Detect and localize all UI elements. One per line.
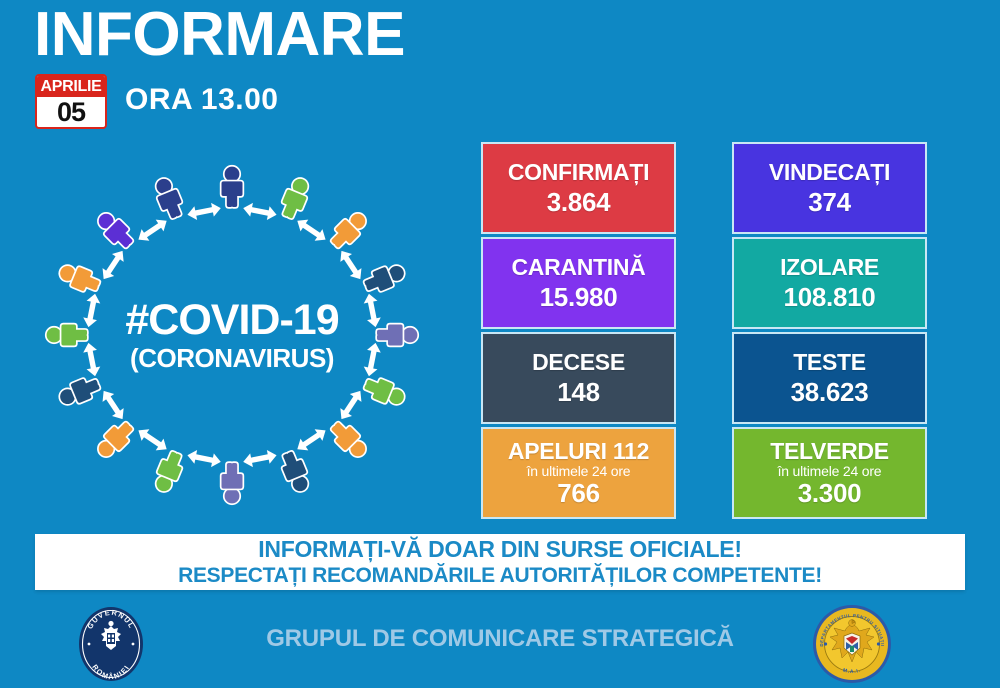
connection-arrow-icon (98, 247, 129, 283)
departamentul-situatii-urgenta-emblem: DEPARTAMENTUL PENTRU SITUAȚII M.A.I. (812, 604, 892, 684)
statistics-grid: CONFIRMAȚI3.864VINDECAȚI374CARANTINĂ15.9… (481, 142, 927, 519)
person-icon (362, 261, 407, 296)
connection-arrow-icon (336, 247, 367, 283)
person-icon (57, 374, 102, 409)
connection-arrow-icon (336, 387, 367, 423)
stat-label-apeluri-112: APELURI 112 (508, 439, 649, 463)
connection-arrow-icon (362, 342, 382, 378)
connection-arrow-icon (98, 387, 129, 423)
connection-arrow-icon (242, 448, 278, 468)
stat-box-carantina: CARANTINĂ15.980 (481, 237, 676, 329)
stat-value-izolare: 108.810 (784, 281, 876, 313)
stat-label-confirmati: CONFIRMAȚI (508, 159, 649, 186)
page-title: INFORMARE (34, 2, 405, 67)
person-icon (57, 261, 102, 296)
stat-label-vindecati: VINDECAȚI (769, 159, 890, 186)
connection-arrow-icon (362, 292, 382, 328)
connection-arrow-icon (293, 425, 329, 456)
stat-label-teste: TESTE (793, 349, 866, 376)
connection-arrow-icon (186, 201, 222, 221)
stat-box-telverde: TELVERDEîn ultimele 24 ore3.300 (732, 427, 927, 519)
connection-arrow-icon (242, 201, 278, 221)
person-icon (151, 175, 186, 220)
person-icon (151, 449, 186, 494)
stat-value-decese: 148 (557, 376, 599, 408)
notice-line-2: RESPECTAȚI RECOMANDĂRILE AUTORITĂȚILOR C… (178, 563, 822, 588)
calendar-month-label: APRILIE (37, 76, 105, 97)
official-sources-notice: INFORMAȚI-VĂ DOAR DIN SURSE OFICIALE! RE… (35, 534, 965, 590)
covid-people-circle-graphic: .pfill{fill:inherit;stroke:none;} #COVID… (32, 163, 432, 518)
stat-value-apeluri-112: 766 (557, 479, 599, 508)
stat-value-carantina: 15.980 (540, 281, 618, 313)
connection-arrow-icon (293, 215, 329, 246)
person-icon (278, 175, 313, 220)
person-icon (377, 325, 417, 346)
connection-arrow-icon (82, 292, 102, 328)
report-time: ORA 13.00 (125, 83, 278, 117)
connection-arrow-icon (135, 425, 171, 456)
stat-box-vindecati: VINDECAȚI374 (732, 142, 927, 234)
notice-line-1: INFORMAȚI-VĂ DOAR DIN SURSE OFICIALE! (258, 536, 741, 563)
person-icon (93, 418, 136, 461)
stat-box-teste: TESTE38.623 (732, 332, 927, 424)
stat-label-decese: DECESE (532, 349, 625, 376)
connection-arrow-icon (135, 215, 171, 246)
person-icon (47, 325, 87, 346)
stat-label-telverde: TELVERDE (770, 439, 889, 463)
calendar-day-label: 05 (37, 97, 105, 127)
person-icon (278, 449, 313, 494)
person-icon (93, 209, 136, 252)
stat-value-teste: 38.623 (791, 376, 869, 408)
stat-label-carantina: CARANTINĂ (511, 254, 645, 281)
connection-arrow-icon (186, 448, 222, 468)
stat-label-izolare: IZOLARE (780, 254, 879, 281)
calendar-icon: APRILIE 05 (35, 74, 107, 129)
person-icon (222, 167, 243, 207)
person-icon (327, 209, 370, 252)
stat-value-confirmati: 3.864 (547, 186, 611, 218)
stat-box-decese: DECESE148 (481, 332, 676, 424)
stat-box-confirmati: CONFIRMAȚI3.864 (481, 142, 676, 234)
person-icon (362, 374, 407, 409)
stat-value-vindecati: 374 (808, 186, 850, 218)
stat-box-apeluri-112: APELURI 112în ultimele 24 ore766 (481, 427, 676, 519)
stat-sublabel-apeluri-112: în ultimele 24 ore (527, 463, 631, 479)
stat-box-izolare: IZOLARE108.810 (732, 237, 927, 329)
person-icon (222, 463, 243, 503)
stat-value-telverde: 3.300 (798, 479, 862, 508)
connection-arrow-icon (82, 342, 102, 378)
stat-sublabel-telverde: în ultimele 24 ore (778, 463, 882, 479)
person-icon (327, 418, 370, 461)
